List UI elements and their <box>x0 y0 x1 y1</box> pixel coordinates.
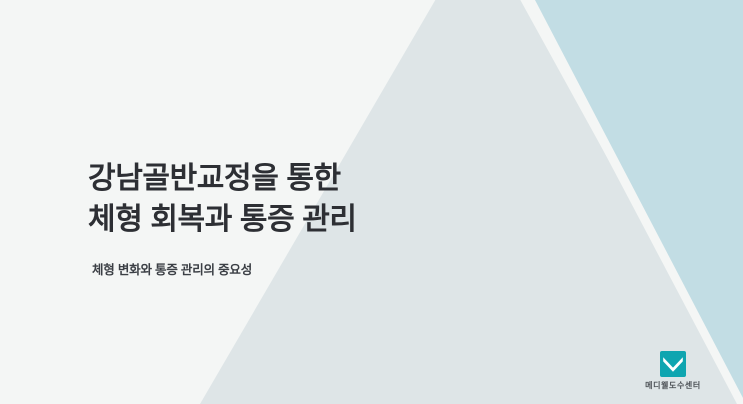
brand-name: 메디웰도수센터 <box>645 380 701 391</box>
title-block: 강남골반교정을 통한 체형 회복과 통증 관리 체형 변화와 통증 관리의 중요… <box>88 158 508 278</box>
checkmark-envelope-icon <box>660 351 686 377</box>
page-title: 강남골반교정을 통한 체형 회복과 통증 관리 <box>88 158 508 241</box>
page-subtitle: 체형 변화와 통증 관리의 중요성 <box>88 241 508 278</box>
brand-lockup: 메디웰도수센터 <box>633 351 713 391</box>
presentation-slide: 강남골반교정을 통한 체형 회복과 통증 관리 체형 변화와 통증 관리의 중요… <box>0 0 743 404</box>
